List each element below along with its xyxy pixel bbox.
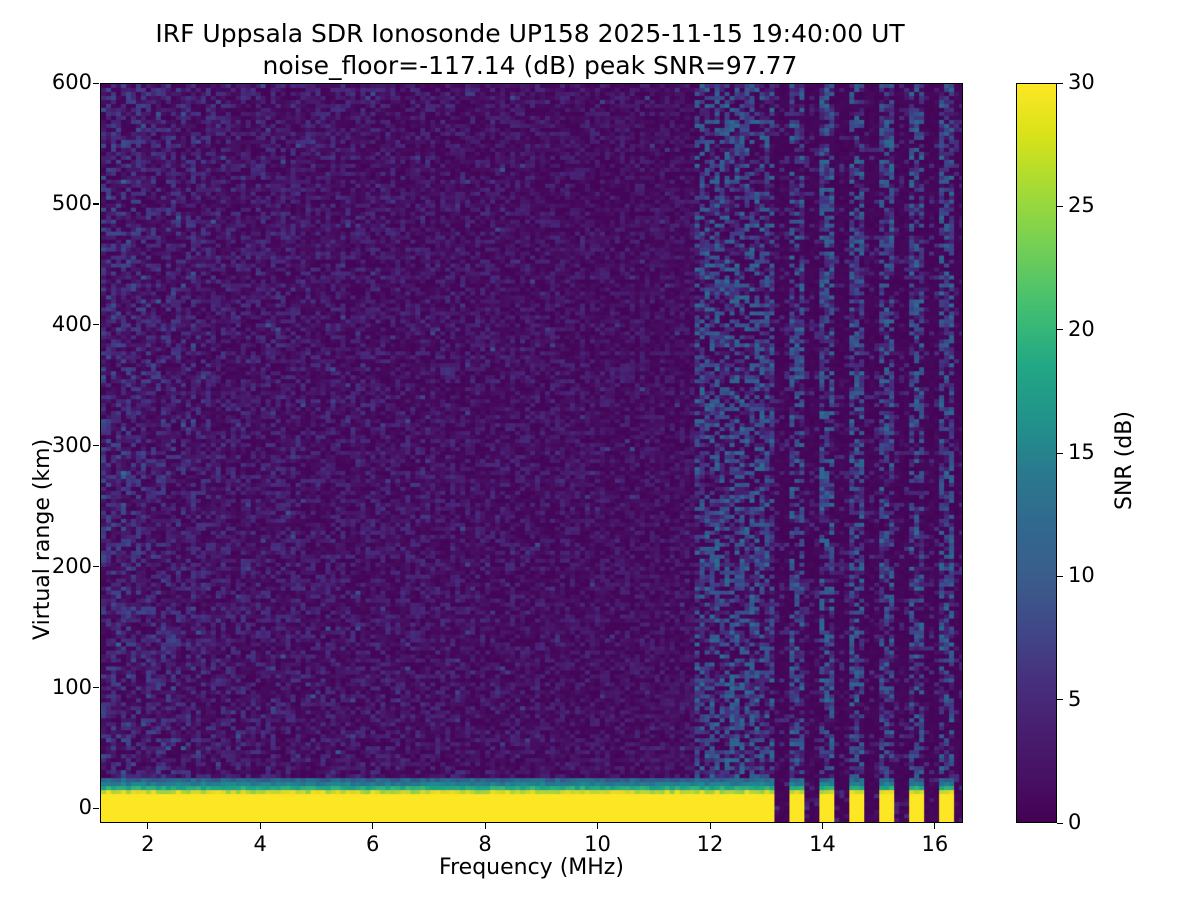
x-tick-10	[597, 823, 598, 829]
y-tick-label-300: 300	[52, 433, 92, 457]
y-tick-400	[93, 324, 99, 325]
title-line-2: noise_floor=-117.14 (dB) peak SNR=97.77	[0, 50, 1060, 82]
x-tick-8	[485, 823, 486, 829]
x-tick-12	[710, 823, 711, 829]
x-tick-label-10: 10	[584, 832, 611, 856]
y-tick-300	[93, 445, 99, 446]
x-tick-6	[372, 823, 373, 829]
x-tick-14	[822, 823, 823, 829]
colorbar-tick-label-15: 15	[1068, 440, 1095, 464]
ionogram-figure: IRF Uppsala SDR Ionosonde UP158 2025-11-…	[0, 0, 1200, 900]
x-tick-label-2: 2	[141, 832, 154, 856]
figure-title: IRF Uppsala SDR Ionosonde UP158 2025-11-…	[0, 18, 1060, 82]
x-tick-2	[147, 823, 148, 829]
colorbar[interactable]	[1016, 83, 1057, 823]
y-tick-label-600: 600	[52, 70, 92, 94]
y-tick-label-500: 500	[52, 191, 92, 215]
colorbar-label: SNR (dB)	[1112, 411, 1137, 510]
colorbar-tick-0	[1057, 823, 1063, 824]
x-axis-label: Frequency (MHz)	[100, 855, 963, 880]
y-tick-label-0: 0	[79, 795, 92, 819]
colorbar-tick-20	[1057, 329, 1063, 330]
colorbar-tick-label-20: 20	[1068, 317, 1095, 341]
colorbar-tick-label-0: 0	[1068, 810, 1081, 834]
colorbar-tick-25	[1057, 206, 1063, 207]
y-tick-0	[93, 808, 99, 809]
x-tick-label-14: 14	[809, 832, 836, 856]
colorbar-tick-15	[1057, 453, 1063, 454]
y-tick-label-200: 200	[52, 554, 92, 578]
colorbar-tick-10	[1057, 576, 1063, 577]
y-tick-label-100: 100	[52, 675, 92, 699]
colorbar-tick-label-25: 25	[1068, 193, 1095, 217]
colorbar-tick-label-30: 30	[1068, 70, 1095, 94]
colorbar-tick-label-10: 10	[1068, 563, 1095, 587]
y-tick-500	[93, 203, 99, 204]
x-tick-label-8: 8	[478, 832, 491, 856]
x-tick-label-16: 16	[922, 832, 949, 856]
y-axis-label: Virtual range (km)	[30, 439, 55, 640]
x-tick-label-4: 4	[254, 832, 267, 856]
colorbar-tick-label-5: 5	[1068, 687, 1081, 711]
ionogram-plot-area[interactable]	[100, 83, 963, 823]
y-tick-200	[93, 566, 99, 567]
y-tick-label-400: 400	[52, 312, 92, 336]
colorbar-tick-30	[1057, 83, 1063, 84]
y-tick-100	[93, 687, 99, 688]
x-tick-16	[934, 823, 935, 829]
x-tick-4	[260, 823, 261, 829]
y-tick-600	[93, 83, 99, 84]
colorbar-tick-5	[1057, 699, 1063, 700]
ionogram-heatmap	[101, 84, 962, 822]
x-tick-label-6: 6	[366, 832, 379, 856]
x-tick-label-12: 12	[697, 832, 724, 856]
title-line-1: IRF Uppsala SDR Ionosonde UP158 2025-11-…	[155, 19, 904, 48]
